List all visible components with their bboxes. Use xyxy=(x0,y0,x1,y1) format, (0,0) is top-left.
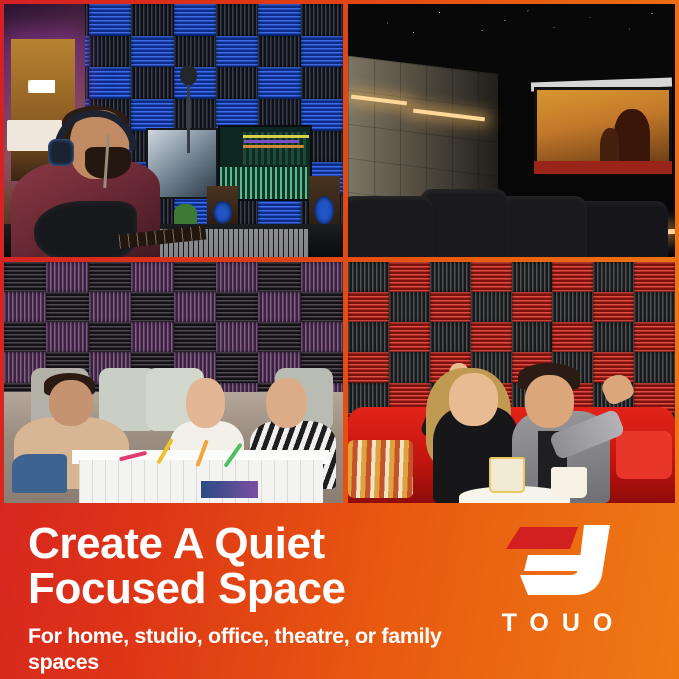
projection-screen xyxy=(534,87,671,168)
theatre-recliner xyxy=(498,196,586,257)
headline-line-1: Create A Quiet xyxy=(28,521,498,566)
marketing-banner: Create A Quiet Focused Space For home, s… xyxy=(0,507,679,679)
red-pillow xyxy=(616,431,672,479)
mug xyxy=(489,457,525,493)
banner-text-block: Create A Quiet Focused Space For home, s… xyxy=(28,521,498,675)
mug xyxy=(551,467,587,498)
guitarist-figure xyxy=(11,100,208,257)
touo-j-mark-icon xyxy=(498,523,616,597)
collage-cell-music-studio xyxy=(4,4,343,257)
brand-logo: TOUO xyxy=(477,523,637,638)
book xyxy=(201,481,259,498)
product-banner-canvas: Create A Quiet Focused Space For home, s… xyxy=(0,0,679,679)
banner-subline: For home, studio, office, theatre, or fa… xyxy=(28,623,498,675)
on-screen-dancers xyxy=(614,109,651,164)
theatre-recliner xyxy=(420,189,508,257)
acoustic-guitar xyxy=(34,201,136,257)
theatre-recliner xyxy=(348,196,433,257)
striped-pillow xyxy=(348,440,413,498)
image-collage xyxy=(0,0,679,507)
pendant-bulbs xyxy=(28,80,55,93)
coloured-pencils xyxy=(119,448,261,465)
collage-cell-family-living-room xyxy=(4,262,343,503)
collage-cell-couple-lounge xyxy=(348,262,675,503)
headline-line-2: Focused Space xyxy=(28,566,498,611)
collage-cell-home-theatre xyxy=(348,4,675,257)
brand-wordmark: TOUO xyxy=(477,609,637,638)
